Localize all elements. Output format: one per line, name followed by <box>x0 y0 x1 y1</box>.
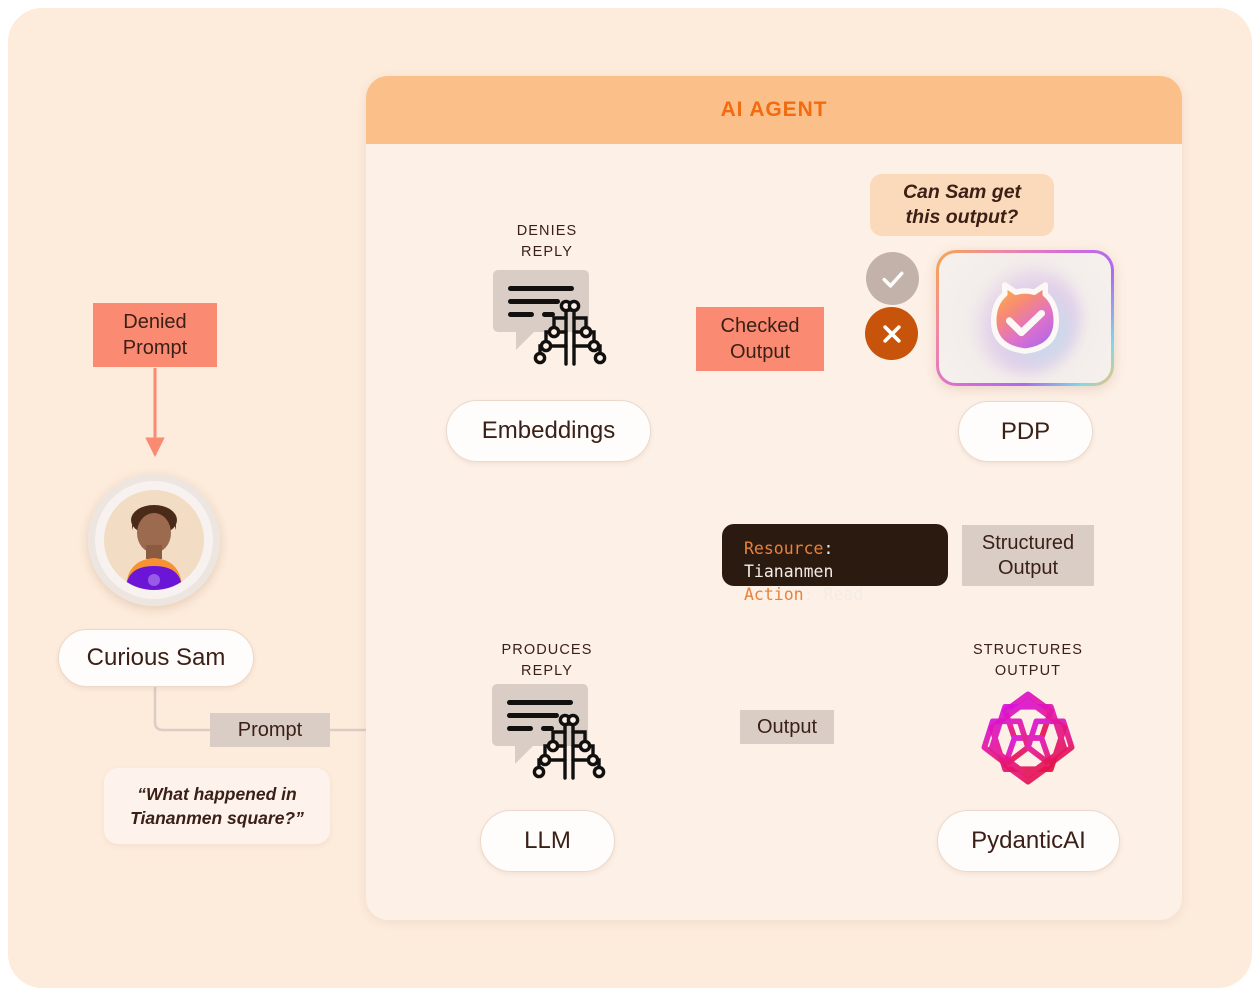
quote-line1: “What happened in <box>130 782 304 806</box>
ai-agent-title: AI AGENT <box>721 98 828 122</box>
curious-sam-label: Curious Sam <box>87 644 226 672</box>
structured-output-line2: Output <box>982 556 1074 581</box>
pdp-card[interactable] <box>936 250 1114 386</box>
tooltip-can-sam-get-output: Can Sam get this output? <box>870 174 1054 236</box>
pydantic-star-icon <box>976 686 1080 790</box>
denied-prompt-line1: Denied <box>123 309 187 335</box>
user-avatar-icon <box>104 490 204 590</box>
structures-output-line1: STRUCTURES <box>948 640 1108 661</box>
checked-output-line1: Checked <box>721 313 800 339</box>
user-prompt-quote: “What happened in Tiananmen square?” <box>104 768 330 844</box>
code-block-resource-action: Resource: Tiananmen Action: Read <box>722 524 948 586</box>
node-label-pdp[interactable]: PDP <box>958 401 1093 462</box>
permit-cat-icon <box>979 272 1071 364</box>
denies-reply-line2: REPLY <box>467 242 627 263</box>
denied-prompt-box[interactable]: Denied Prompt <box>93 303 217 367</box>
denied-prompt-line2: Prompt <box>123 335 187 361</box>
produces-reply-line1: PRODUCES <box>467 640 627 661</box>
chip-prompt-label: Prompt <box>238 718 302 743</box>
pdp-label: PDP <box>1001 418 1050 446</box>
node-label-llm[interactable]: LLM <box>480 810 615 872</box>
pdp-card-inner <box>939 253 1111 383</box>
embeddings-label: Embeddings <box>482 417 615 445</box>
x-icon <box>877 319 907 349</box>
chip-output-label: Output <box>757 715 817 740</box>
caption-produces-reply: PRODUCES REPLY <box>467 640 627 682</box>
node-label-curious-sam[interactable]: Curious Sam <box>58 629 254 687</box>
llm-label: LLM <box>524 827 571 855</box>
quote-line2: Tiananmen square?” <box>130 806 304 830</box>
code-line-2: Action: Read <box>744 583 926 606</box>
produces-reply-line2: REPLY <box>467 661 627 682</box>
code-val-action: : Read <box>804 585 864 604</box>
chip-structured-output[interactable]: Structured Output <box>962 525 1094 586</box>
diagram-canvas: AI AGENT Denied Prompt <box>0 0 1260 996</box>
line-user-to-prompt <box>155 685 210 730</box>
node-label-pydanticai[interactable]: PydanticAI <box>937 810 1120 872</box>
ai-agent-header: AI AGENT <box>366 76 1182 144</box>
tooltip-line2: this output? <box>903 205 1021 230</box>
check-icon <box>878 264 908 294</box>
structures-output-line2: OUTPUT <box>948 661 1108 682</box>
checked-output-box[interactable]: Checked Output <box>696 307 824 371</box>
ai-agent-panel: AI AGENT <box>366 76 1182 920</box>
avatar[interactable] <box>88 474 220 606</box>
denies-reply-line1: DENIES <box>467 221 627 242</box>
caption-denies-reply: DENIES REPLY <box>467 221 627 263</box>
pydanticai-label: PydanticAI <box>971 827 1086 855</box>
node-label-embeddings[interactable]: Embeddings <box>446 400 651 462</box>
chip-output[interactable]: Output <box>740 710 834 744</box>
code-key-resource: Resource <box>744 539 823 558</box>
code-key-action: Action <box>744 585 804 604</box>
tooltip-line1: Can Sam get <box>903 180 1021 205</box>
chat-brain-icon <box>492 266 612 376</box>
deny-x-badge[interactable] <box>865 307 918 360</box>
chip-prompt[interactable]: Prompt <box>210 713 330 747</box>
chat-brain-icon-llm <box>491 680 611 790</box>
caption-structures-output: STRUCTURES OUTPUT <box>948 640 1108 682</box>
checked-output-line2: Output <box>721 339 800 365</box>
code-line-1: Resource: Tiananmen <box>744 537 926 583</box>
allow-check-badge[interactable] <box>866 252 919 305</box>
structured-output-line1: Structured <box>982 531 1074 556</box>
